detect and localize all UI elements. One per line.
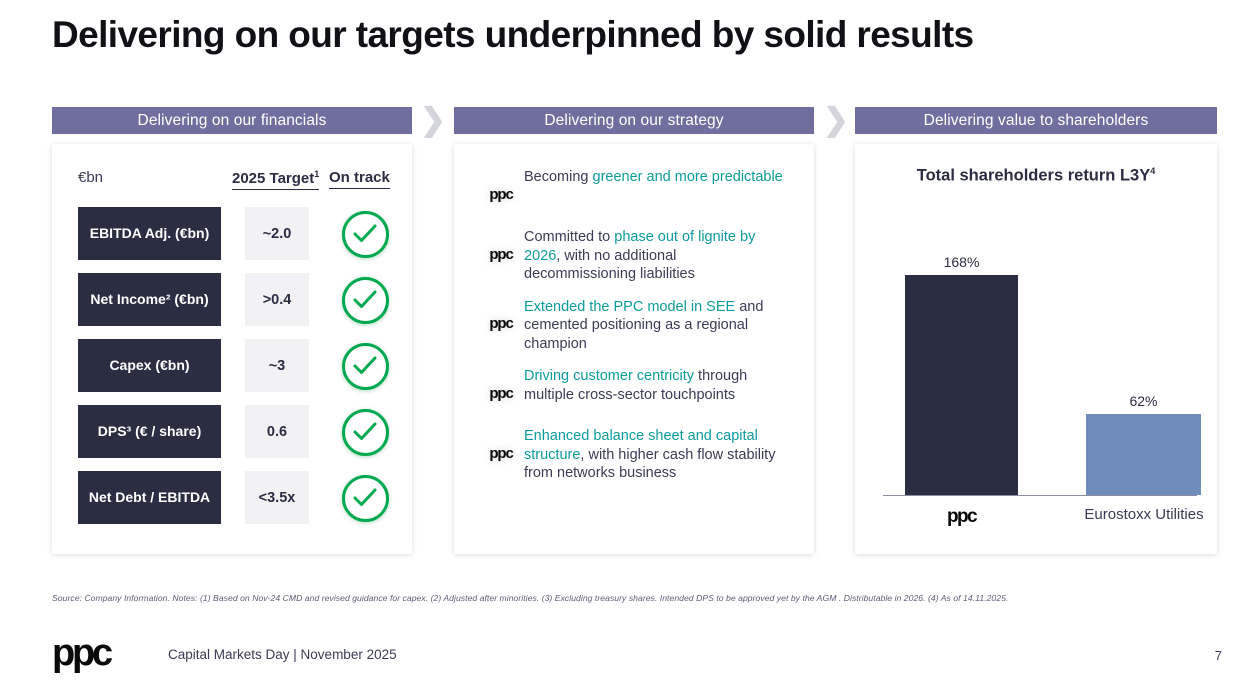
bullet-pre-text: Becoming [524, 169, 593, 185]
footnote-marker-1: 1 [314, 169, 319, 179]
bar-value-label-ppc: 168% [944, 254, 980, 270]
row-target-value: ~3 [245, 339, 309, 392]
row-target-value: ~2.0 [245, 207, 309, 260]
ppc-logo-bullet-icon: ppc [478, 433, 524, 473]
check-circle-icon [342, 475, 387, 520]
chevron-right-icon-1: ❯ [420, 107, 444, 135]
table-row: DPS³ (€ / share)0.6 [52, 405, 412, 458]
chart-title: Total shareholders return L3Y4 [855, 166, 1217, 186]
ppc-mark: ppc [489, 445, 512, 462]
bullet-highlight-text: greener and more predictable [593, 169, 783, 185]
x-label-eurostoxx: Eurostoxx Utilities [1068, 506, 1220, 523]
page-title: Delivering on our targets underpinned by… [52, 14, 974, 56]
financials-table-header: €bn 2025 Target1 On track [52, 169, 412, 193]
check-circle-icon [342, 277, 387, 322]
chart-x-axis [883, 495, 1197, 497]
ppc-mark: ppc [489, 385, 512, 402]
check-circle-icon [342, 211, 387, 256]
band-shareholders-label: Delivering value to shareholders [924, 112, 1149, 130]
row-target-value: 0.6 [245, 405, 309, 458]
chart-x-labels: ppc Eurostoxx Utilities [883, 506, 1197, 532]
bar-value-label-eurostoxx: 62% [1129, 393, 1157, 409]
band-shareholders: Delivering value to shareholders [855, 107, 1217, 134]
table-row: EBITDA Adj. (€bn)~2.0 [52, 207, 412, 260]
column-header-ontrack: On track [329, 169, 390, 189]
table-row: Capex (€bn)~3 [52, 339, 412, 392]
row-target-value: >0.4 [245, 273, 309, 326]
bullet-highlight-text: Driving customer centricity [524, 368, 694, 384]
bullet-pre-text: Committed to [524, 229, 614, 245]
financials-panel: €bn 2025 Target1 On track EBITDA Adj. (€… [52, 144, 412, 554]
x-label-ppc: ppc [905, 506, 1018, 528]
footnote: Source: Company Information. Notes: (1) … [52, 593, 1008, 603]
list-item-text: Driving customer centricity through mult… [524, 367, 792, 404]
list-item: ppcDriving customer centricity through m… [454, 367, 814, 413]
chevron-right-icon-2: ❯ [823, 107, 847, 135]
chart-title-text: Total shareholders return L3Y [917, 167, 1151, 185]
ppc-logo-icon: ppc [947, 506, 976, 527]
band-strategy-label: Delivering on our strategy [544, 112, 723, 130]
table-row: Net Income² (€bn)>0.4 [52, 273, 412, 326]
row-metric-label: Capex (€bn) [78, 339, 221, 392]
strategy-panel: ppcBecoming greener and more predictable… [454, 144, 814, 554]
column-header-target: 2025 Target1 [232, 169, 319, 190]
row-metric-label: Net Income² (€bn) [78, 273, 221, 326]
row-target-value: <3.5x [245, 471, 309, 524]
ppc-logo-bullet-icon: ppc [478, 304, 524, 344]
bar-fill-ppc [905, 275, 1018, 495]
page-number: 7 [1215, 648, 1222, 663]
ppc-logo-bullet-icon: ppc [478, 373, 524, 413]
ppc-logo-bullet-icon: ppc [478, 174, 524, 214]
bar-eurostoxx: 62% [1086, 393, 1201, 495]
footer-text: Capital Markets Day | November 2025 [168, 647, 397, 662]
ppc-mark: ppc [489, 186, 512, 203]
strategy-bullet-list: ppcBecoming greener and more predictable… [454, 168, 814, 497]
bar-fill-eurostoxx [1086, 414, 1201, 495]
list-item-text: Committed to phase out of lignite by 202… [524, 228, 792, 284]
list-item-text: Enhanced balance sheet and capital struc… [524, 427, 792, 483]
ppc-mark: ppc [489, 246, 512, 263]
bar-ppc: 168% [905, 254, 1018, 495]
ppc-logo-footer-icon: ppc [52, 634, 110, 672]
band-financials: Delivering on our financials [52, 107, 412, 134]
financials-rows: EBITDA Adj. (€bn)~2.0Net Income² (€bn)>0… [52, 207, 412, 537]
row-metric-label: EBITDA Adj. (€bn) [78, 207, 221, 260]
check-circle-icon [342, 343, 387, 388]
list-item: ppcEnhanced balance sheet and capital st… [454, 427, 814, 483]
list-item-text: Extended the PPC model in SEE and cement… [524, 298, 792, 354]
band-strategy: Delivering on our strategy [454, 107, 814, 134]
column-header-target-text: 2025 Target [232, 170, 314, 187]
list-item: ppcCommitted to phase out of lignite by … [454, 228, 814, 284]
footnote-marker-4: 4 [1150, 166, 1155, 176]
band-financials-label: Delivering on our financials [138, 112, 327, 130]
row-metric-label: DPS³ (€ / share) [78, 405, 221, 458]
check-circle-icon [342, 409, 387, 454]
list-item: ppcExtended the PPC model in SEE and cem… [454, 298, 814, 354]
ppc-mark: ppc [489, 315, 512, 332]
list-item: ppcBecoming greener and more predictable [454, 168, 814, 214]
ppc-logo-bullet-icon: ppc [478, 234, 524, 274]
unit-label: €bn [78, 169, 103, 186]
list-item-text: Becoming greener and more predictable [524, 168, 792, 187]
chart-plot-area: 168% 62% [883, 204, 1197, 496]
bullet-highlight-text: Extended the PPC model in SEE [524, 299, 735, 315]
row-metric-label: Net Debt / EBITDA [78, 471, 221, 524]
table-row: Net Debt / EBITDA<3.5x [52, 471, 412, 524]
shareholders-panel: Total shareholders return L3Y4 168% 62% … [855, 144, 1217, 554]
